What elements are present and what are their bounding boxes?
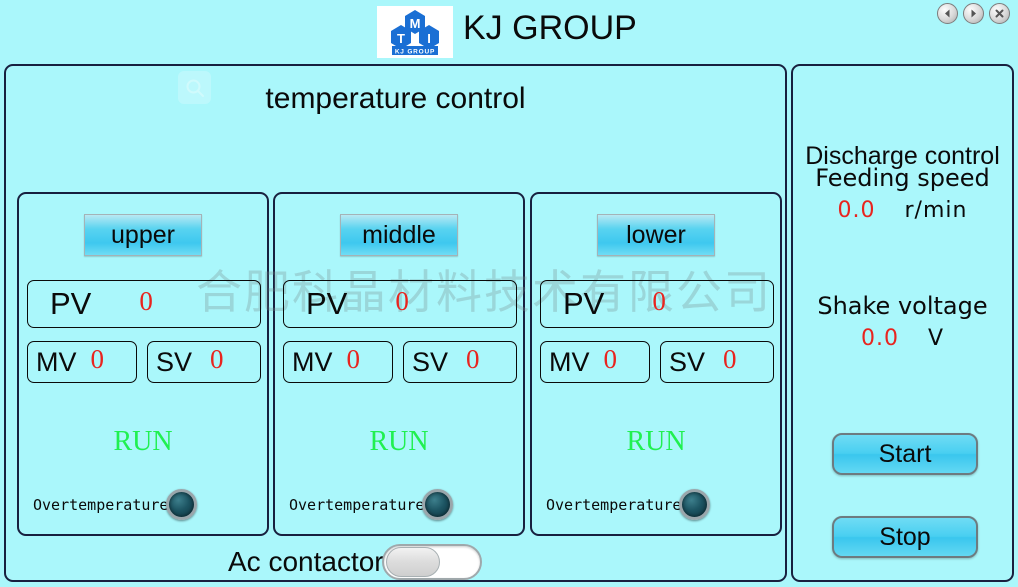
feeding-speed-label: Feeding speed — [793, 164, 1012, 192]
ac-contactor-label: Ac contactor — [228, 546, 384, 578]
mv-field-middle[interactable]: MV 0 — [283, 341, 393, 383]
feeding-speed-readout: 0.0 r/min — [793, 198, 1012, 223]
brand-title: KJ GROUP — [463, 9, 637, 48]
sv-label: SV — [412, 347, 448, 378]
mv-value: 0 — [604, 344, 618, 375]
svg-text:M: M — [410, 16, 421, 31]
search-icon[interactable] — [178, 71, 211, 104]
forward-arrow-icon — [968, 8, 979, 19]
zone-card-lower: lower PV 0 MV 0 SV 0 RUN Overtemperature — [530, 192, 782, 536]
close-button[interactable] — [989, 3, 1010, 24]
back-arrow-icon — [942, 8, 953, 19]
overtemperature-indicator-lower: Overtemperature — [546, 489, 710, 520]
mv-label: MV — [292, 347, 333, 378]
sv-value: 0 — [466, 344, 480, 375]
status-text-lower: RUN — [532, 426, 780, 458]
svg-text:I: I — [427, 31, 431, 46]
sv-field-upper[interactable]: SV 0 — [147, 341, 261, 383]
mv-value: 0 — [91, 344, 105, 375]
sv-value: 0 — [210, 344, 224, 375]
sv-field-lower[interactable]: SV 0 — [660, 341, 774, 383]
zone-label-middle[interactable]: middle — [340, 214, 458, 256]
discharge-control-panel: Discharge control Feeding speed 0.0 r/mi… — [791, 64, 1014, 582]
overtemperature-label: Overtemperature — [546, 496, 681, 514]
mv-field-lower[interactable]: MV 0 — [540, 341, 650, 383]
overtemperature-label: Overtemperature — [289, 496, 424, 514]
forward-button[interactable] — [963, 3, 984, 24]
status-text-upper: RUN — [19, 426, 267, 458]
window-controls — [937, 3, 1010, 24]
ac-contactor-toggle[interactable] — [382, 544, 482, 580]
overtemperature-indicator-middle: Overtemperature — [289, 489, 453, 520]
shake-voltage-label: Shake voltage — [793, 292, 1012, 320]
shake-voltage-value: 0.0 — [861, 326, 899, 351]
zone-card-middle: middle PV 0 MV 0 SV 0 RUN Overtemperatur… — [273, 192, 525, 536]
status-text-middle: RUN — [275, 426, 523, 458]
pv-value: 0 — [395, 286, 409, 317]
shake-voltage-readout: 0.0 V — [793, 326, 1012, 351]
pv-label: PV — [563, 286, 604, 322]
pv-value: 0 — [652, 286, 666, 317]
pv-field-middle[interactable]: PV 0 — [283, 280, 517, 328]
magnifier-glyph — [184, 77, 206, 99]
mv-label: MV — [36, 347, 77, 378]
temperature-control-panel: temperature control upper PV 0 MV 0 SV 0… — [4, 64, 787, 582]
zone-card-upper: upper PV 0 MV 0 SV 0 RUN Overtemperature — [17, 192, 269, 536]
shake-voltage-unit: V — [928, 326, 944, 351]
mti-logo-icon: M T I KJ GROUP — [381, 9, 449, 55]
sv-value: 0 — [723, 344, 737, 375]
back-button[interactable] — [937, 3, 958, 24]
title-bar: M T I KJ GROUP KJ GROUP — [0, 0, 1018, 62]
zone-label-upper[interactable]: upper — [84, 214, 202, 256]
pv-label: PV — [306, 286, 347, 322]
sv-label: SV — [156, 347, 192, 378]
sv-field-middle[interactable]: SV 0 — [403, 341, 517, 383]
company-logo: M T I KJ GROUP — [377, 6, 453, 58]
overtemperature-lamp-icon — [422, 489, 453, 520]
mv-field-upper[interactable]: MV 0 — [27, 341, 137, 383]
overtemperature-lamp-icon — [166, 489, 197, 520]
toggle-knob — [386, 547, 440, 577]
mv-value: 0 — [347, 344, 361, 375]
page-title: temperature control — [6, 82, 785, 116]
mv-label: MV — [549, 347, 590, 378]
start-button[interactable]: Start — [832, 433, 978, 475]
overtemperature-indicator-upper: Overtemperature — [33, 489, 197, 520]
svg-text:KJ GROUP: KJ GROUP — [395, 49, 435, 56]
overtemperature-lamp-icon — [679, 489, 710, 520]
feeding-speed-metric: Feeding speed 0.0 r/min — [793, 164, 1012, 223]
ac-contactor-row: Ac contactor — [228, 544, 482, 580]
svg-text:T: T — [397, 31, 405, 46]
stop-button[interactable]: Stop — [832, 516, 978, 558]
application-root: 合肥科晶材料技术有限公司 M T I KJ GROUP KJ GROUP — [0, 0, 1018, 587]
zone-label-lower[interactable]: lower — [597, 214, 715, 256]
feeding-speed-unit: r/min — [905, 198, 968, 223]
sv-label: SV — [669, 347, 705, 378]
pv-label: PV — [50, 286, 91, 322]
pv-field-lower[interactable]: PV 0 — [540, 280, 774, 328]
shake-voltage-metric: Shake voltage 0.0 V — [793, 292, 1012, 351]
overtemperature-label: Overtemperature — [33, 496, 168, 514]
pv-field-upper[interactable]: PV 0 — [27, 280, 261, 328]
pv-value: 0 — [139, 286, 153, 317]
feeding-speed-value: 0.0 — [838, 198, 876, 223]
close-icon — [994, 8, 1005, 19]
